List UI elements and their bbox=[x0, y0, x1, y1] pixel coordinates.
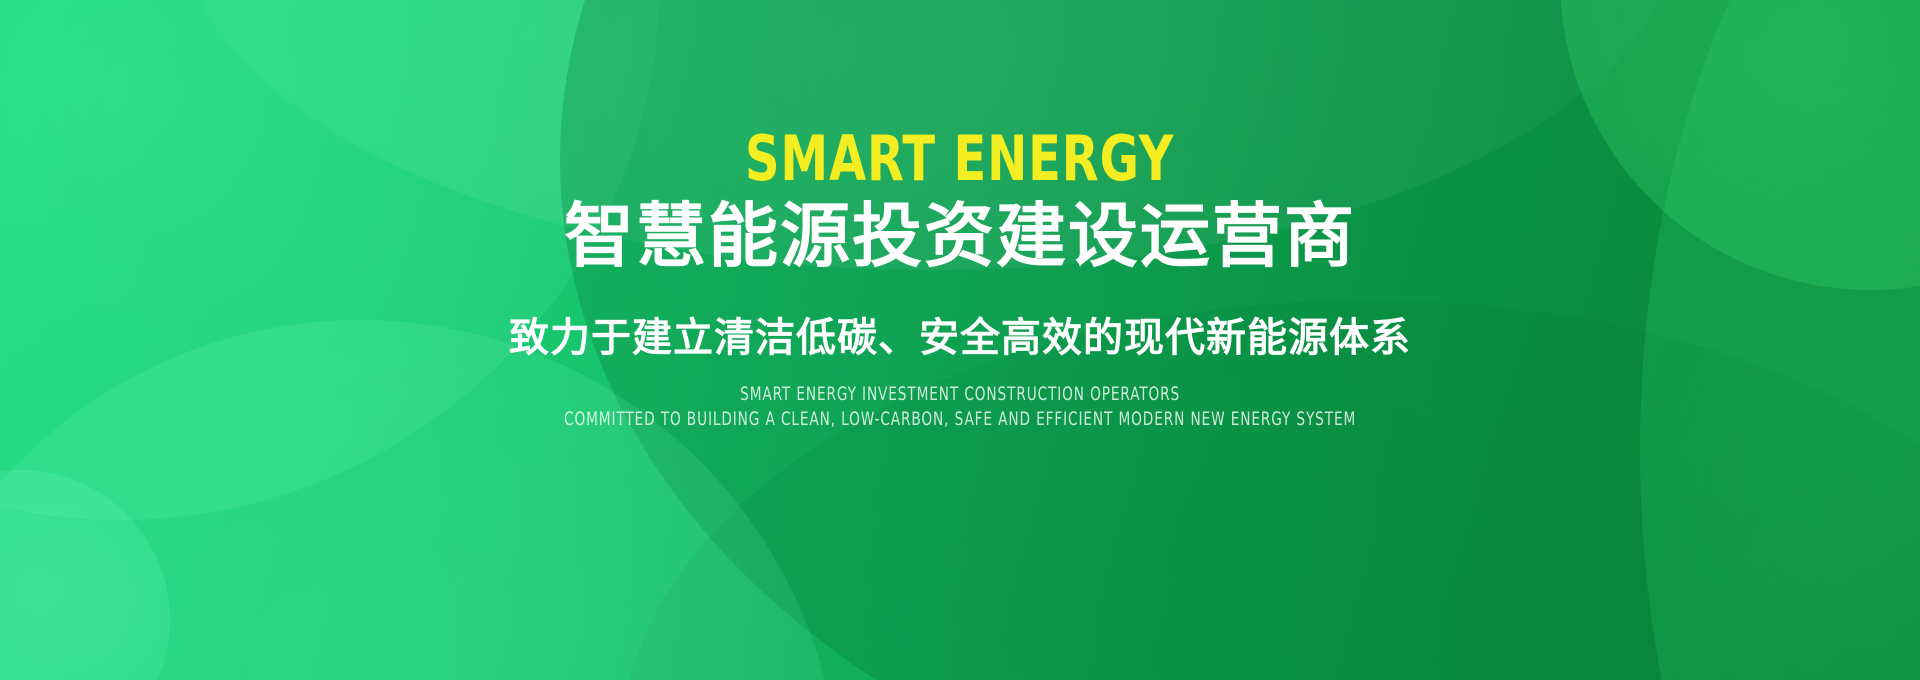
hero-banner: SMART ENERGY 智慧能源投资建设运营商 致力于建立清洁低碳、安全高效的… bbox=[0, 0, 1920, 680]
hero-content: SMART ENERGY 智慧能源投资建设运营商 致力于建立清洁低碳、安全高效的… bbox=[0, 0, 1920, 680]
eyebrow-group: SMART ENERGY INVESTMENT CONSTRUCTION OPE… bbox=[465, 382, 1455, 433]
eyebrow-line-2: COMMITTED TO BUILDING A CLEAN, LOW-CARBO… bbox=[564, 407, 1356, 433]
headline-english: SMART ENERGY bbox=[745, 128, 1174, 190]
eyebrow-line-1: SMART ENERGY INVESTMENT CONSTRUCTION OPE… bbox=[564, 382, 1356, 408]
subheadline-chinese: 致力于建立清洁低碳、安全高效的现代新能源体系 bbox=[509, 316, 1411, 360]
headline-chinese: 智慧能源投资建设运营商 bbox=[564, 200, 1356, 274]
